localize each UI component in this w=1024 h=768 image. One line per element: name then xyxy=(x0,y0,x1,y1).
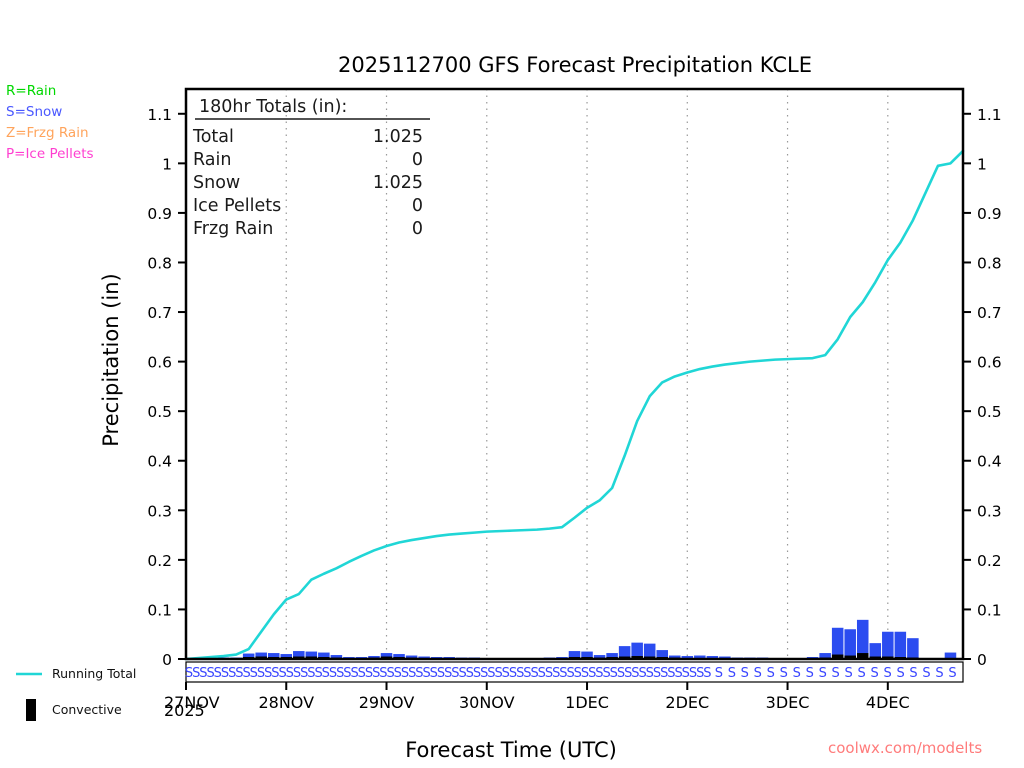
ptype-symbol-snow: S xyxy=(935,666,943,681)
ptype-symbol-snow: S xyxy=(728,666,736,681)
totals-row-label: Ice Pellets xyxy=(193,196,281,216)
y-tick-label-left: 0.7 xyxy=(147,304,172,322)
y-tick-label-left: 0.1 xyxy=(147,601,172,619)
y-tick-label-left: 1.1 xyxy=(147,106,172,124)
totals-row-value: 1.025 xyxy=(373,173,423,193)
precip-bar xyxy=(895,632,907,659)
x-tick-label: 29NOV xyxy=(359,693,415,712)
x-tick-label: 3DEC xyxy=(766,693,810,712)
y-tick-label-left: 0.5 xyxy=(147,403,172,421)
y-tick-label-left: 0.8 xyxy=(147,254,172,272)
ptype-symbol-snow: S xyxy=(922,666,930,681)
ptype-symbol-snow: S xyxy=(806,666,814,681)
x-tick-label: 2DEC xyxy=(665,693,709,712)
totals-row-value: 1.025 xyxy=(373,127,423,147)
totals-row-value: 0 xyxy=(412,150,423,170)
x-tick-label: 1DEC xyxy=(565,693,609,712)
y-tick-label-right: 0.7 xyxy=(977,304,1002,322)
y-tick-label-left: 0 xyxy=(162,651,172,669)
legend-bar-swatch xyxy=(26,699,36,721)
ptype-legend-item-0: R=Rain xyxy=(6,83,56,99)
ptype-symbol-snow: S xyxy=(793,666,801,681)
legend-label: Running Total xyxy=(52,666,136,681)
ptype-symbol-snow: S xyxy=(741,666,749,681)
precip-bar xyxy=(844,629,856,659)
ptype-legend-item-2: Z=Frzg Rain xyxy=(6,125,89,141)
y-tick-label-right: 0.8 xyxy=(977,254,1002,272)
ptype-symbol-snow: S xyxy=(948,666,956,681)
ptype-symbol-snow: S xyxy=(780,666,788,681)
y-tick-label-right: 0.5 xyxy=(977,403,1002,421)
y-tick-label-right: 0.2 xyxy=(977,552,1002,570)
y-tick-label-left: 0.3 xyxy=(147,502,172,520)
y-tick-label-right: 0.4 xyxy=(977,453,1002,471)
ptype-symbol-snow: S xyxy=(870,666,878,681)
totals-row-label: Frzg Rain xyxy=(193,219,273,239)
precip-type-row: SSSSSSSSSSSSSSSSSSSSSSSSSSSSSSSSSSSSSSSS… xyxy=(185,662,963,682)
ptype-symbol-snow: S xyxy=(896,666,904,681)
y-tick-label-right: 1.1 xyxy=(977,106,1002,124)
totals-row-label: Snow xyxy=(193,173,240,193)
page-title: 2025112700 GFS Forecast Precipitation KC… xyxy=(338,53,812,77)
ptype-symbol-snow: S xyxy=(858,666,866,681)
precipitation-forecast-chart: 2025112700 GFS Forecast Precipitation KC… xyxy=(0,0,1024,768)
precip-bar xyxy=(907,638,919,659)
totals-row-label: Rain xyxy=(193,150,231,170)
watermark-label: coolwx.com/modelts xyxy=(828,739,982,757)
y-tick-label-left: 0.6 xyxy=(147,354,172,372)
ptype-symbol-snow: S xyxy=(754,666,762,681)
ptype-symbol-snow: S xyxy=(819,666,827,681)
chart-page: 2025112700 GFS Forecast Precipitation KC… xyxy=(0,0,1024,768)
y-tick-label-right: 0.3 xyxy=(977,502,1002,520)
x-axis-year-label: 2025 xyxy=(164,701,205,720)
totals-header: 180hr Totals (in): xyxy=(199,97,347,117)
ptype-symbol-snow: S xyxy=(703,666,711,681)
x-axis-title: Forecast Time (UTC) xyxy=(405,738,617,762)
x-tick-label: 30NOV xyxy=(459,693,515,712)
legend-label: Convective xyxy=(52,702,122,717)
y-tick-label-right: 0.6 xyxy=(977,354,1002,372)
precip-bar xyxy=(832,628,844,659)
x-tick-label: 28NOV xyxy=(258,693,314,712)
totals-row-label: Total xyxy=(192,127,234,147)
ptype-symbol-snow: S xyxy=(909,666,917,681)
ptype-legend-item-3: P=Ice Pellets xyxy=(6,146,94,162)
ptype-symbol-snow: S xyxy=(767,666,775,681)
y-tick-label-right: 1 xyxy=(977,155,987,173)
ptype-symbol-snow: S xyxy=(715,666,723,681)
y-tick-label-right: 0.1 xyxy=(977,601,1002,619)
x-tick-label: 4DEC xyxy=(866,693,910,712)
y-tick-label-right: 0.9 xyxy=(977,205,1002,223)
ptype-symbol-snow: S xyxy=(832,666,840,681)
ptype-legend-item-1: S=Snow xyxy=(6,104,62,120)
y-tick-label-left: 0.9 xyxy=(147,205,172,223)
ptype-symbol-snow: S xyxy=(883,666,891,681)
y-tick-label-right: 0 xyxy=(977,651,987,669)
y-tick-label-left: 0.4 xyxy=(147,453,172,471)
totals-row-value: 0 xyxy=(412,219,423,239)
y-tick-label-left: 0.2 xyxy=(147,552,172,570)
y-tick-label-left: 1 xyxy=(162,155,172,173)
y-axis-title: Precipitation (in) xyxy=(99,273,123,446)
ptype-symbol-snow: S xyxy=(845,666,853,681)
precip-bar xyxy=(882,632,894,659)
totals-row-value: 0 xyxy=(412,196,423,216)
